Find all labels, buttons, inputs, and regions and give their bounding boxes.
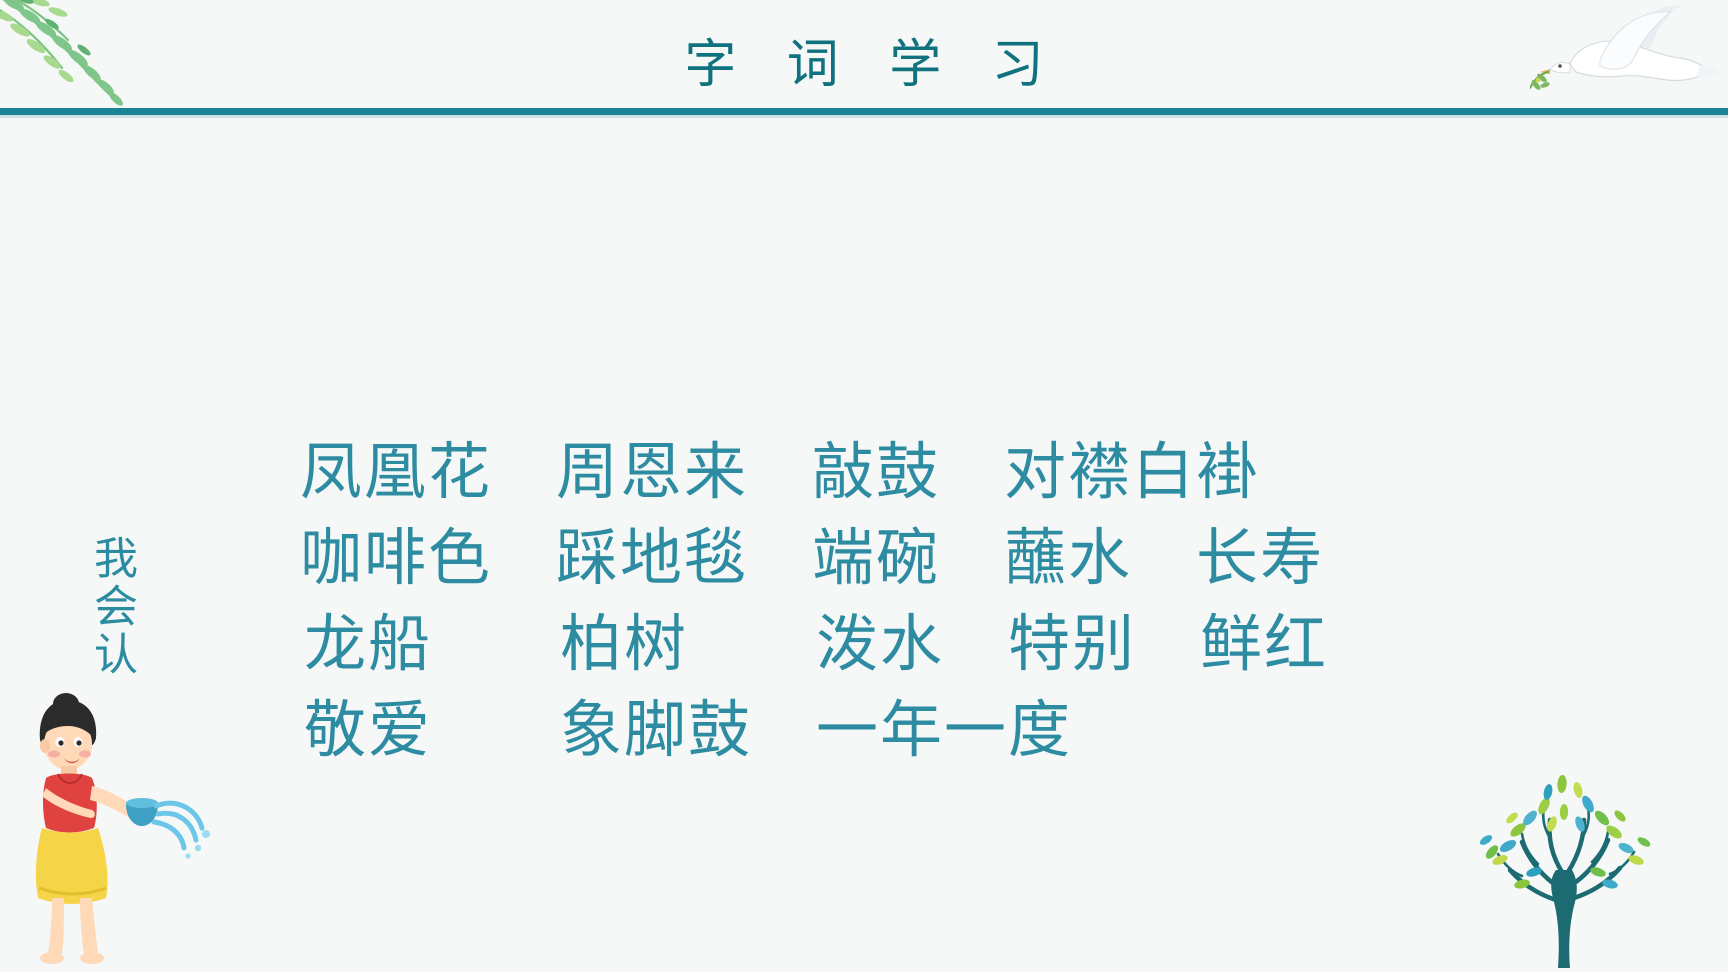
word-row-1: 凤凰花 周恩来 敲鼓 对襟白褂 bbox=[300, 430, 1560, 516]
word-row-2: 咖啡色 踩地毯 端碗 蘸水 长寿 bbox=[300, 516, 1560, 602]
word-row-3: 龙船 柏树 泼水 特别 鲜红 bbox=[300, 602, 1560, 688]
word-row-4: 敬爱 象脚鼓 一年一度 bbox=[300, 688, 1560, 774]
page-title: 字 词 学 习 bbox=[0, 22, 1728, 97]
word-list: 凤凰花 周恩来 敲鼓 对襟白褂 咖啡色 踩地毯 端碗 蘸水 长寿 龙船 柏树 泼… bbox=[300, 430, 1560, 774]
girl-pouring-water-icon bbox=[6, 682, 226, 972]
section-label-wohuiren: 我会认 bbox=[78, 535, 142, 679]
vocabulary-panel: 我会认 凤凰花 周恩来 敲鼓 对襟白褂 咖啡色 踩地毯 端碗 蘸水 长寿 龙船 … bbox=[0, 140, 1728, 700]
tree-icon bbox=[1452, 768, 1682, 968]
slide-canvas: 字 词 学 习 我会认 凤凰花 周恩来 敲鼓 对襟白褂 咖啡色 踩地毯 端碗 蘸… bbox=[0, 0, 1728, 972]
header-divider bbox=[0, 108, 1728, 115]
header-divider-shadow bbox=[0, 115, 1728, 118]
slide-header: 字 词 学 习 bbox=[0, 0, 1728, 122]
